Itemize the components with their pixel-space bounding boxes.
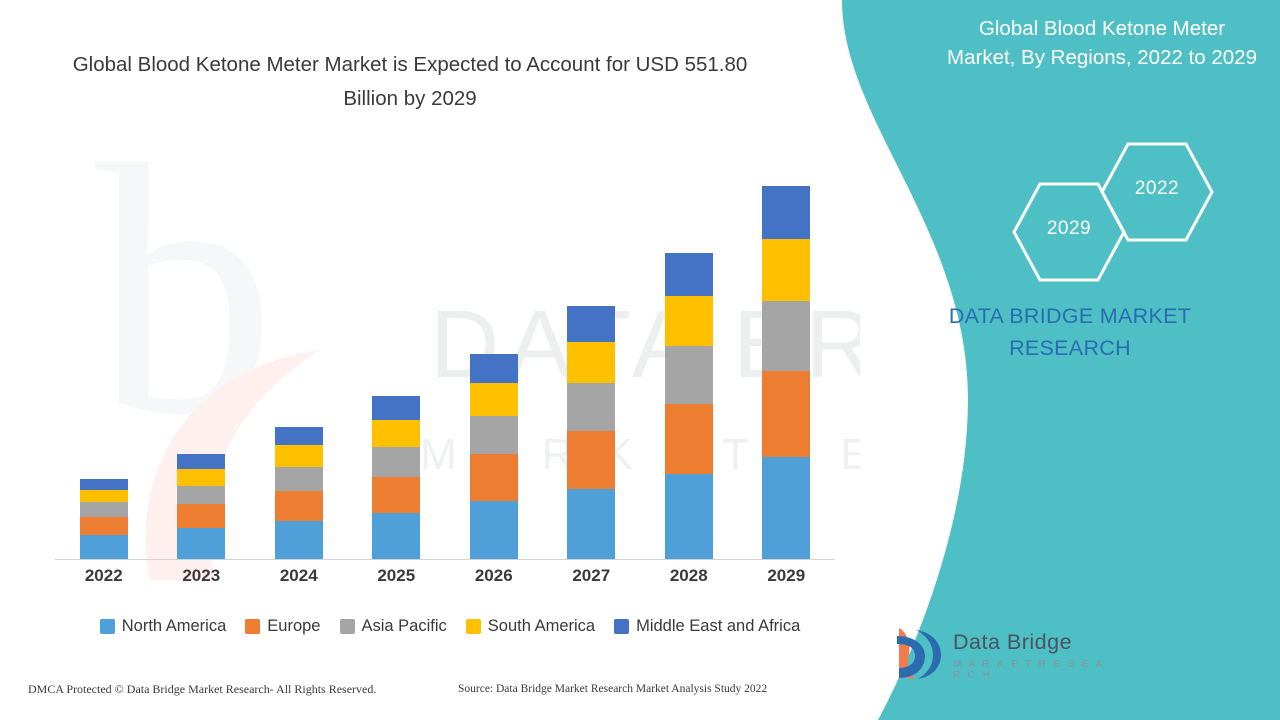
bar-segment [275,445,323,466]
bar-segment [80,517,128,535]
bar-segment [762,301,810,371]
chart-legend: North AmericaEuropeAsia PacificSouth Ame… [55,617,845,636]
bar-segment [372,477,420,514]
x-axis-label: 2022 [64,566,144,586]
bar-segment [177,454,225,468]
panel-brand-name: DATA BRIDGE MARKET RESEARCH [910,300,1230,364]
hexagon-badges: 2022 2029 [950,140,1260,280]
bar-segment [762,239,810,300]
bar-segment [177,486,225,505]
x-axis-label: 2029 [746,566,826,586]
bar-segment [762,371,810,457]
bar-segment [177,504,225,527]
bar-segment [80,479,128,490]
legend-item[interactable]: Asia Pacific [340,617,447,636]
panel-content: Global Blood Ketone Meter Market, By Reg… [850,0,1280,720]
hexagon-2029-label: 2029 [1010,218,1128,240]
bar-group [372,396,420,559]
legend-item[interactable]: North America [100,617,227,636]
x-axis-label: 2023 [161,566,241,586]
x-axis-label: 2026 [454,566,534,586]
hexagon-2029: 2029 [1010,180,1128,284]
bar-segment [80,490,128,502]
bar-segment [275,467,323,492]
bar-segment [567,431,615,489]
legend-swatch [245,619,260,634]
bar-segment [470,416,518,454]
data-bridge-logo-icon [885,622,947,684]
x-axis-label: 2028 [649,566,729,586]
bar-segment [470,501,518,559]
bar-segment [762,186,810,239]
company-logo: Data Bridge M A R K E T R E S E A R C H [885,620,1115,690]
legend-item[interactable]: South America [466,617,595,636]
bar-segment [567,383,615,431]
bar-segment [470,383,518,416]
bar-segment [80,502,128,516]
bar-segment [372,447,420,477]
legend-item[interactable]: Middle East and Africa [614,617,800,636]
x-axis-labels: 20222023202420252026202720282029 [55,566,835,592]
bar-group [665,253,713,559]
logo-tagline: M A R K E T R E S E A R C H [953,659,1115,681]
bar-segment [275,491,323,521]
x-axis-label: 2027 [551,566,631,586]
bar-group [470,354,518,559]
logo-text: Data Bridge M A R K E T R E S E A R C H [953,630,1115,681]
bar-segment [177,528,225,559]
bar-group [762,186,810,559]
panel-title: Global Blood Ketone Meter Market, By Reg… [942,14,1262,72]
legend-label: South America [488,617,595,636]
bar-segment [372,513,420,559]
legend-item[interactable]: Europe [245,617,320,636]
bar-group [567,306,615,559]
chart-plot-area [55,158,835,560]
bar-segment [665,404,713,474]
bar-group [275,427,323,560]
bar-segment [567,342,615,383]
legend-swatch [100,619,115,634]
legend-swatch [614,619,629,634]
legend-swatch [466,619,481,634]
bar-group [177,454,225,559]
legend-label: North America [122,617,227,636]
page-title: Global Blood Ketone Meter Market is Expe… [60,48,760,116]
footer-source: Source: Data Bridge Market Research Mark… [458,683,767,695]
bar-segment [372,396,420,419]
bar-segment [80,535,128,560]
logo-name: Data Bridge [953,630,1115,655]
bar-segment [567,489,615,559]
bar-segment [665,253,713,296]
screenshot-root: b DATA BRIDGE M A R K E T R E S E A R C … [0,0,1280,720]
legend-label: Asia Pacific [362,617,447,636]
x-axis-label: 2025 [356,566,436,586]
bar-segment [470,454,518,501]
chart [55,150,835,560]
bar-segment [372,420,420,447]
legend-label: Middle East and Africa [636,617,800,636]
footer-copyright: DMCA Protected © Data Bridge Market Rese… [28,682,376,697]
bar-segment [762,457,810,559]
bar-segment [470,354,518,383]
bar-segment [275,521,323,559]
legend-swatch [340,619,355,634]
bar-segment [177,469,225,486]
x-axis-line [55,559,835,560]
bar-segment [567,306,615,342]
legend-label: Europe [267,617,320,636]
x-axis-label: 2024 [259,566,339,586]
bar-segment [665,474,713,559]
bar-segment [665,346,713,404]
bar-segment [275,427,323,446]
bar-segment [665,296,713,346]
bar-group [80,479,128,559]
